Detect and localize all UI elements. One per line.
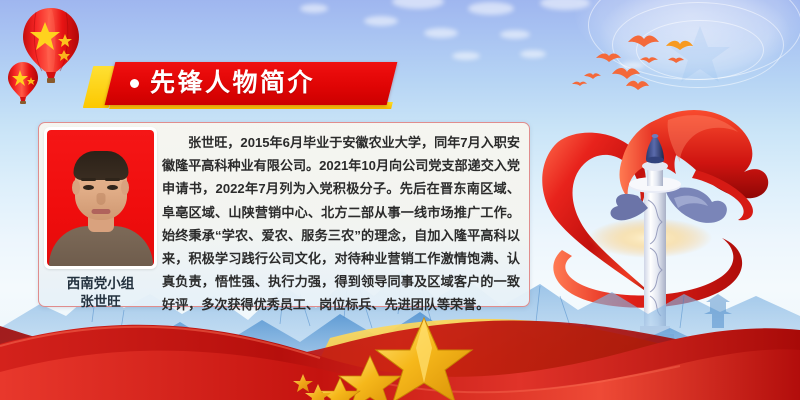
cloud-8 [364,16,398,26]
page-title: 先锋人物简介 [150,71,315,96]
gold-stars [293,318,472,400]
title-banner: 先锋人物简介 [88,62,388,110]
profile-photo-block: 西南党小组 张世旺 [44,127,157,302]
huabiao-column [611,134,727,342]
cloud-1 [392,0,444,9]
halo-glow-2 [600,0,790,82]
halo-ring-3 [636,20,764,80]
hot-air-balloon-small [6,60,40,106]
cloud-5 [500,30,530,39]
bio-paragraph: 张世旺，2015年6月毕业于安徽农业大学，同年7月入职安徽隆平高科种业有限公司。… [162,131,520,317]
poster-canvas: 先锋人物简介 西南党小组 张世旺 [0,0,800,400]
caption-name: 张世旺 [44,293,157,311]
caption-group: 西南党小组 [44,275,157,293]
cloud-4 [424,28,458,38]
birds-flock [570,30,750,110]
pagoda-silhouette [704,294,732,328]
halo-ring-2 [612,2,784,88]
halo-ring-1 [588,0,800,80]
halo-glow-1 [575,0,800,74]
photo-caption: 西南党小组 张世旺 [44,275,157,311]
cloud-10 [620,62,644,69]
cloud-9 [300,4,328,13]
ghost-star-icon [668,24,732,86]
bullet-dot-icon [130,79,139,88]
heart-ribbon-artwork [500,0,800,360]
cloud-7 [520,50,546,58]
cloud-6 [452,52,480,60]
cloud-3 [540,0,590,10]
cloud-2 [468,2,514,15]
portrait-photo [47,130,154,266]
gate-silhouette [264,370,302,392]
photo-frame [44,127,157,269]
